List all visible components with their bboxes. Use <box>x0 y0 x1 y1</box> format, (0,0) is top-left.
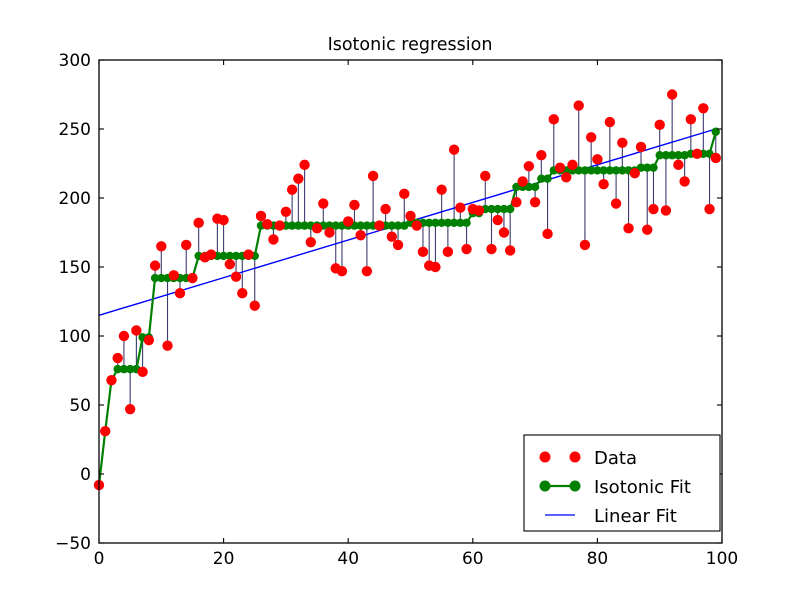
data-point <box>617 138 627 148</box>
data-point <box>667 89 677 99</box>
data-point <box>387 231 397 241</box>
data-point <box>630 168 640 178</box>
data-point <box>156 241 166 251</box>
data-point <box>455 202 465 212</box>
data-point <box>112 353 122 363</box>
x-tick-label: 20 <box>213 549 235 569</box>
data-point <box>293 173 303 183</box>
data-point <box>268 234 278 244</box>
data-point <box>250 300 260 310</box>
data-point <box>555 162 565 172</box>
data-point <box>237 288 247 298</box>
data-point <box>449 145 459 155</box>
figure-canvas: 020406080100 −50050100150200250300 Isoto… <box>0 0 800 600</box>
data-point <box>542 229 552 239</box>
data-point <box>405 211 415 221</box>
data-point <box>281 207 291 217</box>
data-point <box>343 216 353 226</box>
data-point <box>692 149 702 159</box>
data-point <box>225 259 235 269</box>
data-point <box>362 266 372 276</box>
data-point <box>374 220 384 230</box>
data-point <box>474 205 484 215</box>
data-point <box>306 237 316 247</box>
data-point <box>318 198 328 208</box>
data-point <box>206 249 216 259</box>
data-point <box>243 249 253 259</box>
data-point <box>193 218 203 228</box>
data-point <box>418 247 428 257</box>
isotonic-point <box>649 163 657 171</box>
data-point <box>505 245 515 255</box>
data-point <box>443 247 453 257</box>
data-point <box>430 262 440 272</box>
y-tick-label: −50 <box>55 534 91 554</box>
data-point <box>611 198 621 208</box>
data-point <box>324 227 334 237</box>
data-point <box>586 132 596 142</box>
data-point <box>436 185 446 195</box>
x-tick-label: 0 <box>94 549 105 569</box>
data-point <box>673 160 683 170</box>
chart-title: Isotonic regression <box>328 35 493 55</box>
isotonic-point <box>543 174 551 182</box>
data-point <box>355 230 365 240</box>
y-tick-label: 300 <box>59 51 91 71</box>
data-point <box>698 103 708 113</box>
data-point <box>655 120 665 130</box>
isotonic-regression-chart: 020406080100 −50050100150200250300 Isoto… <box>0 0 800 600</box>
data-point <box>312 223 322 233</box>
data-point <box>274 220 284 230</box>
data-point <box>711 153 721 163</box>
y-tick-label: 250 <box>59 120 91 140</box>
data-point <box>187 273 197 283</box>
data-point <box>704 204 714 214</box>
data-point <box>131 325 141 335</box>
data-point <box>480 171 490 181</box>
data-point <box>511 197 521 207</box>
data-point <box>648 204 658 214</box>
legend-label-data: Data <box>594 448 637 469</box>
data-point <box>287 185 297 195</box>
legend-marker-isotonic-left <box>540 481 551 492</box>
y-tick-label: 150 <box>59 258 91 278</box>
data-point <box>605 117 615 127</box>
data-point <box>623 223 633 233</box>
data-point <box>567 160 577 170</box>
data-point <box>144 335 154 345</box>
y-tick-label: 200 <box>59 189 91 209</box>
data-point <box>530 197 540 207</box>
data-point <box>150 260 160 270</box>
data-point <box>231 271 241 281</box>
data-point <box>574 100 584 110</box>
data-point <box>137 367 147 377</box>
data-point <box>119 331 129 341</box>
data-point <box>536 150 546 160</box>
y-tick-label: 100 <box>59 327 91 347</box>
data-point <box>517 176 527 186</box>
isotonic-point <box>462 219 470 227</box>
data-point <box>524 161 534 171</box>
data-point <box>106 375 116 385</box>
data-point <box>580 240 590 250</box>
legend-label-isotonic: Isotonic Fit <box>594 477 691 498</box>
data-point <box>175 288 185 298</box>
data-point <box>636 142 646 152</box>
data-point <box>499 227 509 237</box>
data-point <box>399 189 409 199</box>
data-point <box>100 426 110 436</box>
data-point <box>661 205 671 215</box>
legend-marker-data-left <box>540 452 551 463</box>
chart-legend: Data Isotonic Fit Linear Fit <box>524 435 720 531</box>
data-point <box>262 219 272 229</box>
data-point <box>299 160 309 170</box>
data-point <box>592 154 602 164</box>
isotonic-point <box>531 183 539 191</box>
y-tick-label: 50 <box>69 396 91 416</box>
data-point <box>598 179 608 189</box>
y-tick-label: 0 <box>80 465 91 485</box>
legend-marker-data-right <box>570 452 581 463</box>
data-point <box>642 225 652 235</box>
data-point <box>162 340 172 350</box>
data-point <box>412 220 422 230</box>
data-point <box>349 200 359 210</box>
data-point <box>368 171 378 181</box>
data-point <box>256 211 266 221</box>
data-point <box>686 114 696 124</box>
data-point <box>125 404 135 414</box>
x-tick-label: 60 <box>462 549 484 569</box>
data-point <box>380 204 390 214</box>
data-point <box>393 240 403 250</box>
data-point <box>561 172 571 182</box>
x-tick-label: 100 <box>706 549 738 569</box>
legend-label-linear: Linear Fit <box>594 506 677 527</box>
data-point <box>337 266 347 276</box>
x-tick-label: 40 <box>337 549 359 569</box>
data-point <box>679 176 689 186</box>
data-point <box>169 270 179 280</box>
data-point <box>461 244 471 254</box>
data-point <box>486 244 496 254</box>
data-point <box>549 114 559 124</box>
data-point <box>493 215 503 225</box>
legend-marker-isotonic-right <box>570 481 581 492</box>
data-point <box>181 240 191 250</box>
data-point <box>218 215 228 225</box>
x-tick-label: 80 <box>587 549 609 569</box>
